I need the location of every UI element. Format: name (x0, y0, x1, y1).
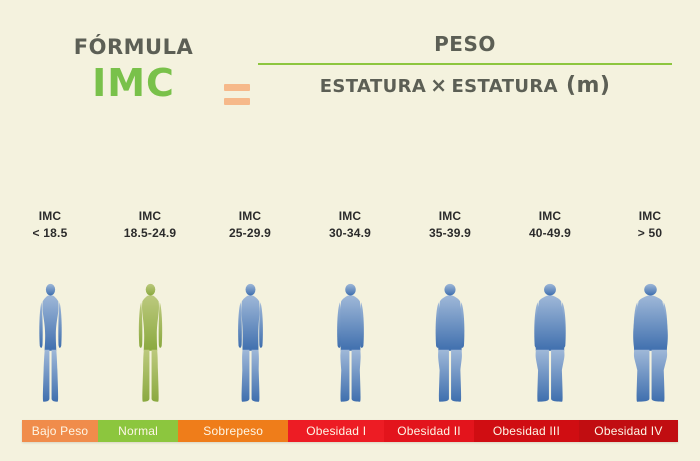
colorbar-segment-7[interactable]: Obesidad IV (579, 420, 678, 442)
person-silhouette (606, 278, 695, 408)
imc-word: IMC (229, 208, 271, 225)
imc-range: 30-34.9 (329, 225, 371, 242)
imc-word: IMC (529, 208, 571, 225)
legs (340, 350, 360, 402)
colorbar-segment-6[interactable]: Obesidad III (474, 420, 579, 442)
imc-range: > 50 (638, 225, 663, 242)
right-arm (58, 302, 61, 348)
head (145, 284, 155, 296)
imc-word: IMC (429, 208, 471, 225)
imc-label-4: IMC30-34.9 (329, 208, 371, 243)
imc-infographic: Fórmula IMC Peso Estatura×Estatura (m) I… (0, 0, 700, 461)
figure-column-1: IMC< 18.5 (0, 208, 100, 408)
torso (340, 295, 360, 350)
head (345, 284, 355, 296)
person-figure-7 (600, 278, 700, 408)
person-figure-2 (100, 278, 200, 408)
head (444, 284, 455, 296)
imc-label-3: IMC25-29.9 (229, 208, 271, 243)
legs (142, 350, 158, 402)
imc-label-1: IMC< 18.5 (33, 208, 68, 243)
torso (535, 295, 565, 350)
equals-bar-bottom (224, 98, 250, 105)
imc-range: 40-49.9 (529, 225, 571, 242)
bmi-category-colorbar: Bajo PesoNormalSobrepesoObesidad IObesid… (22, 420, 678, 442)
fraction-numerator: Peso (258, 26, 672, 58)
torso (438, 295, 462, 350)
left-arm (238, 302, 242, 348)
imc-word: IMC (124, 208, 177, 225)
head (45, 284, 54, 296)
person-silhouette (22, 278, 79, 408)
imc-range: < 18.5 (33, 225, 68, 242)
person-figure-4 (300, 278, 400, 408)
formula-fraction: Peso Estatura×Estatura (m) (258, 26, 672, 100)
torso (42, 295, 58, 350)
figure-column-6: IMC40-49.9 (500, 208, 600, 408)
person-silhouette (219, 278, 282, 408)
torso (142, 295, 159, 350)
imc-range: 35-39.9 (429, 225, 471, 242)
legs (42, 350, 57, 402)
figure-column-4: IMC30-34.9 (300, 208, 400, 408)
figure-column-3: IMC25-29.9 (200, 208, 300, 408)
imc-label-5: IMC35-39.9 (429, 208, 471, 243)
legs (438, 350, 462, 402)
head (544, 284, 556, 296)
torso (633, 295, 668, 350)
left-arm (138, 302, 142, 348)
person-figure-3 (200, 278, 300, 408)
formula-title-word: Fórmula (46, 30, 221, 60)
person-silhouette (413, 278, 487, 408)
imc-word: IMC (33, 208, 68, 225)
imc-label-6: IMC40-49.9 (529, 208, 571, 243)
head (245, 284, 255, 296)
denominator-term-one: Estatura (320, 69, 427, 99)
right-arm (259, 302, 263, 348)
right-arm (158, 302, 162, 348)
colorbar-segment-3[interactable]: Sobrepeso (178, 420, 288, 442)
figure-column-2: IMC18.5-24.9 (100, 208, 200, 408)
imc-word: IMC (329, 208, 371, 225)
colorbar-segment-4[interactable]: Obesidad I (288, 420, 384, 442)
multiplication-icon: × (426, 73, 451, 97)
figure-column-7: IMC> 50 (600, 208, 700, 408)
imc-label-7: IMC> 50 (638, 208, 663, 243)
person-figure-5 (400, 278, 500, 408)
denominator-unit: (m) (558, 73, 610, 98)
person-figure-1 (0, 278, 100, 408)
fraction-divider-line (258, 63, 672, 65)
fraction-denominator: Estatura×Estatura (m) (258, 69, 672, 100)
imc-range: 18.5-24.9 (124, 225, 177, 242)
equals-bar-top (224, 84, 250, 91)
formula-title-block: Fórmula IMC (46, 30, 221, 106)
person-figure-6 (500, 278, 600, 408)
colorbar-segment-5[interactable]: Obesidad II (384, 420, 474, 442)
colorbar-segment-1[interactable]: Bajo Peso (22, 420, 98, 442)
formula-header: Fórmula IMC Peso Estatura×Estatura (m) (0, 26, 700, 136)
head (644, 284, 657, 296)
imc-range: 25-29.9 (229, 225, 271, 242)
denominator-term-two: Estatura (451, 69, 558, 99)
imc-label-2: IMC18.5-24.9 (124, 208, 177, 243)
legs (241, 350, 259, 402)
person-silhouette (509, 278, 591, 408)
person-silhouette (316, 278, 385, 408)
equals-icon (224, 84, 250, 106)
legs (633, 350, 666, 402)
formula-title-acronym: IMC (46, 62, 221, 106)
colorbar-segment-2[interactable]: Normal (98, 420, 178, 442)
legs (536, 350, 565, 402)
figure-column-5: IMC35-39.9 (400, 208, 500, 408)
figure-row: IMC< 18.5 IMC18.5-24.9 (0, 208, 700, 408)
torso (241, 295, 259, 350)
imc-word: IMC (638, 208, 663, 225)
person-silhouette (121, 278, 180, 408)
left-arm (39, 302, 42, 348)
